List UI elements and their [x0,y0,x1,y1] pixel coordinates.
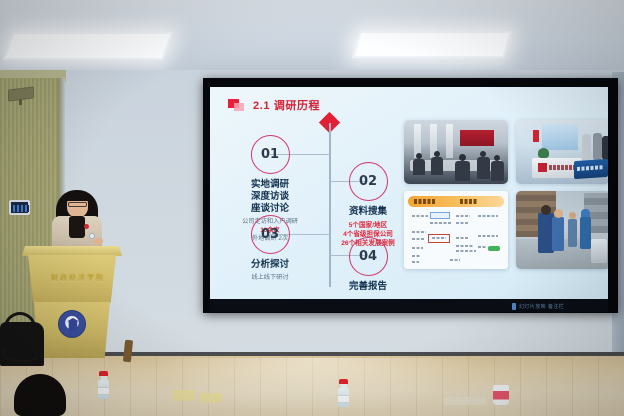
powerpoint-status-bar[interactable]: 幻灯片放映 备注栏 [210,299,608,312]
wall-speaker-mount [19,99,22,105]
presentation-slide[interactable]: 2.1 调研历程 01 实地调研 深度访谈 座谈讨论 公司走访和入户调研 10余… [210,87,608,299]
node-heading-04: 完善报告 [328,281,408,293]
paper-strip [444,397,486,405]
wall-control-panel[interactable] [9,200,30,215]
presentation-scene: 2.1 调研历程 01 实地调研 深度访谈 座谈讨论 公司走访和入户调研 10余… [0,0,624,416]
node-number-04: 04 [349,237,388,276]
presenter [52,186,102,248]
timeline-node-04[interactable]: 04 完善报告 [328,237,408,293]
node-detail-03: 线上线下研讨 [232,274,308,283]
node-heading-01: 实地调研 深度访谈 座谈讨论 [232,179,308,215]
water-bottle [338,379,349,407]
timeline-node-03[interactable]: 03 分析探讨 线上线下研讨 [232,215,308,283]
paper-note [173,390,195,401]
slide-title-row: 2.1 调研历程 [228,97,320,113]
podium-front-panel: 财政经济学院 [28,255,116,303]
status-bar-text: 幻灯片放映 备注栏 [519,303,564,310]
ceiling-light-left [3,32,173,60]
water-bottle [98,371,109,399]
pink-cup [493,385,509,405]
node-number-01: 01 [251,135,290,174]
photo-conference-meeting[interactable] [404,120,508,184]
node-number-03: 03 [251,215,290,254]
timeline-node-02[interactable]: 02 资料搜集 5个国家/地区 4个省级担保公司 26个相关发展案例 [328,162,408,248]
node-heading-03: 分析探讨 [232,259,308,271]
ceiling-light-right [352,31,512,58]
photo-lobby-ceremony[interactable] [516,120,608,184]
presenter-scarf [69,216,85,238]
paper-note [200,393,222,403]
page-title: 2.1 调研历程 [253,97,320,113]
floor-cable [2,344,42,362]
title-square-marker-icon [228,99,245,112]
node-number-02: 02 [349,162,388,201]
university-crest-icon [58,310,86,338]
podium-institution-name: 财政经济学院 [42,273,114,284]
slideshow-icon [512,303,516,310]
presenter-fringe [65,191,90,201]
presenter-badge [84,224,89,229]
photo-document-screenshot[interactable] [404,191,508,269]
node-heading-02: 资料搜集 [328,206,408,218]
floor-reflection [150,358,480,414]
podium-top-surface [22,246,122,256]
photo-warehouse-visit[interactable] [516,191,608,269]
glasses-icon [68,202,87,207]
presenter-hand [94,238,103,245]
